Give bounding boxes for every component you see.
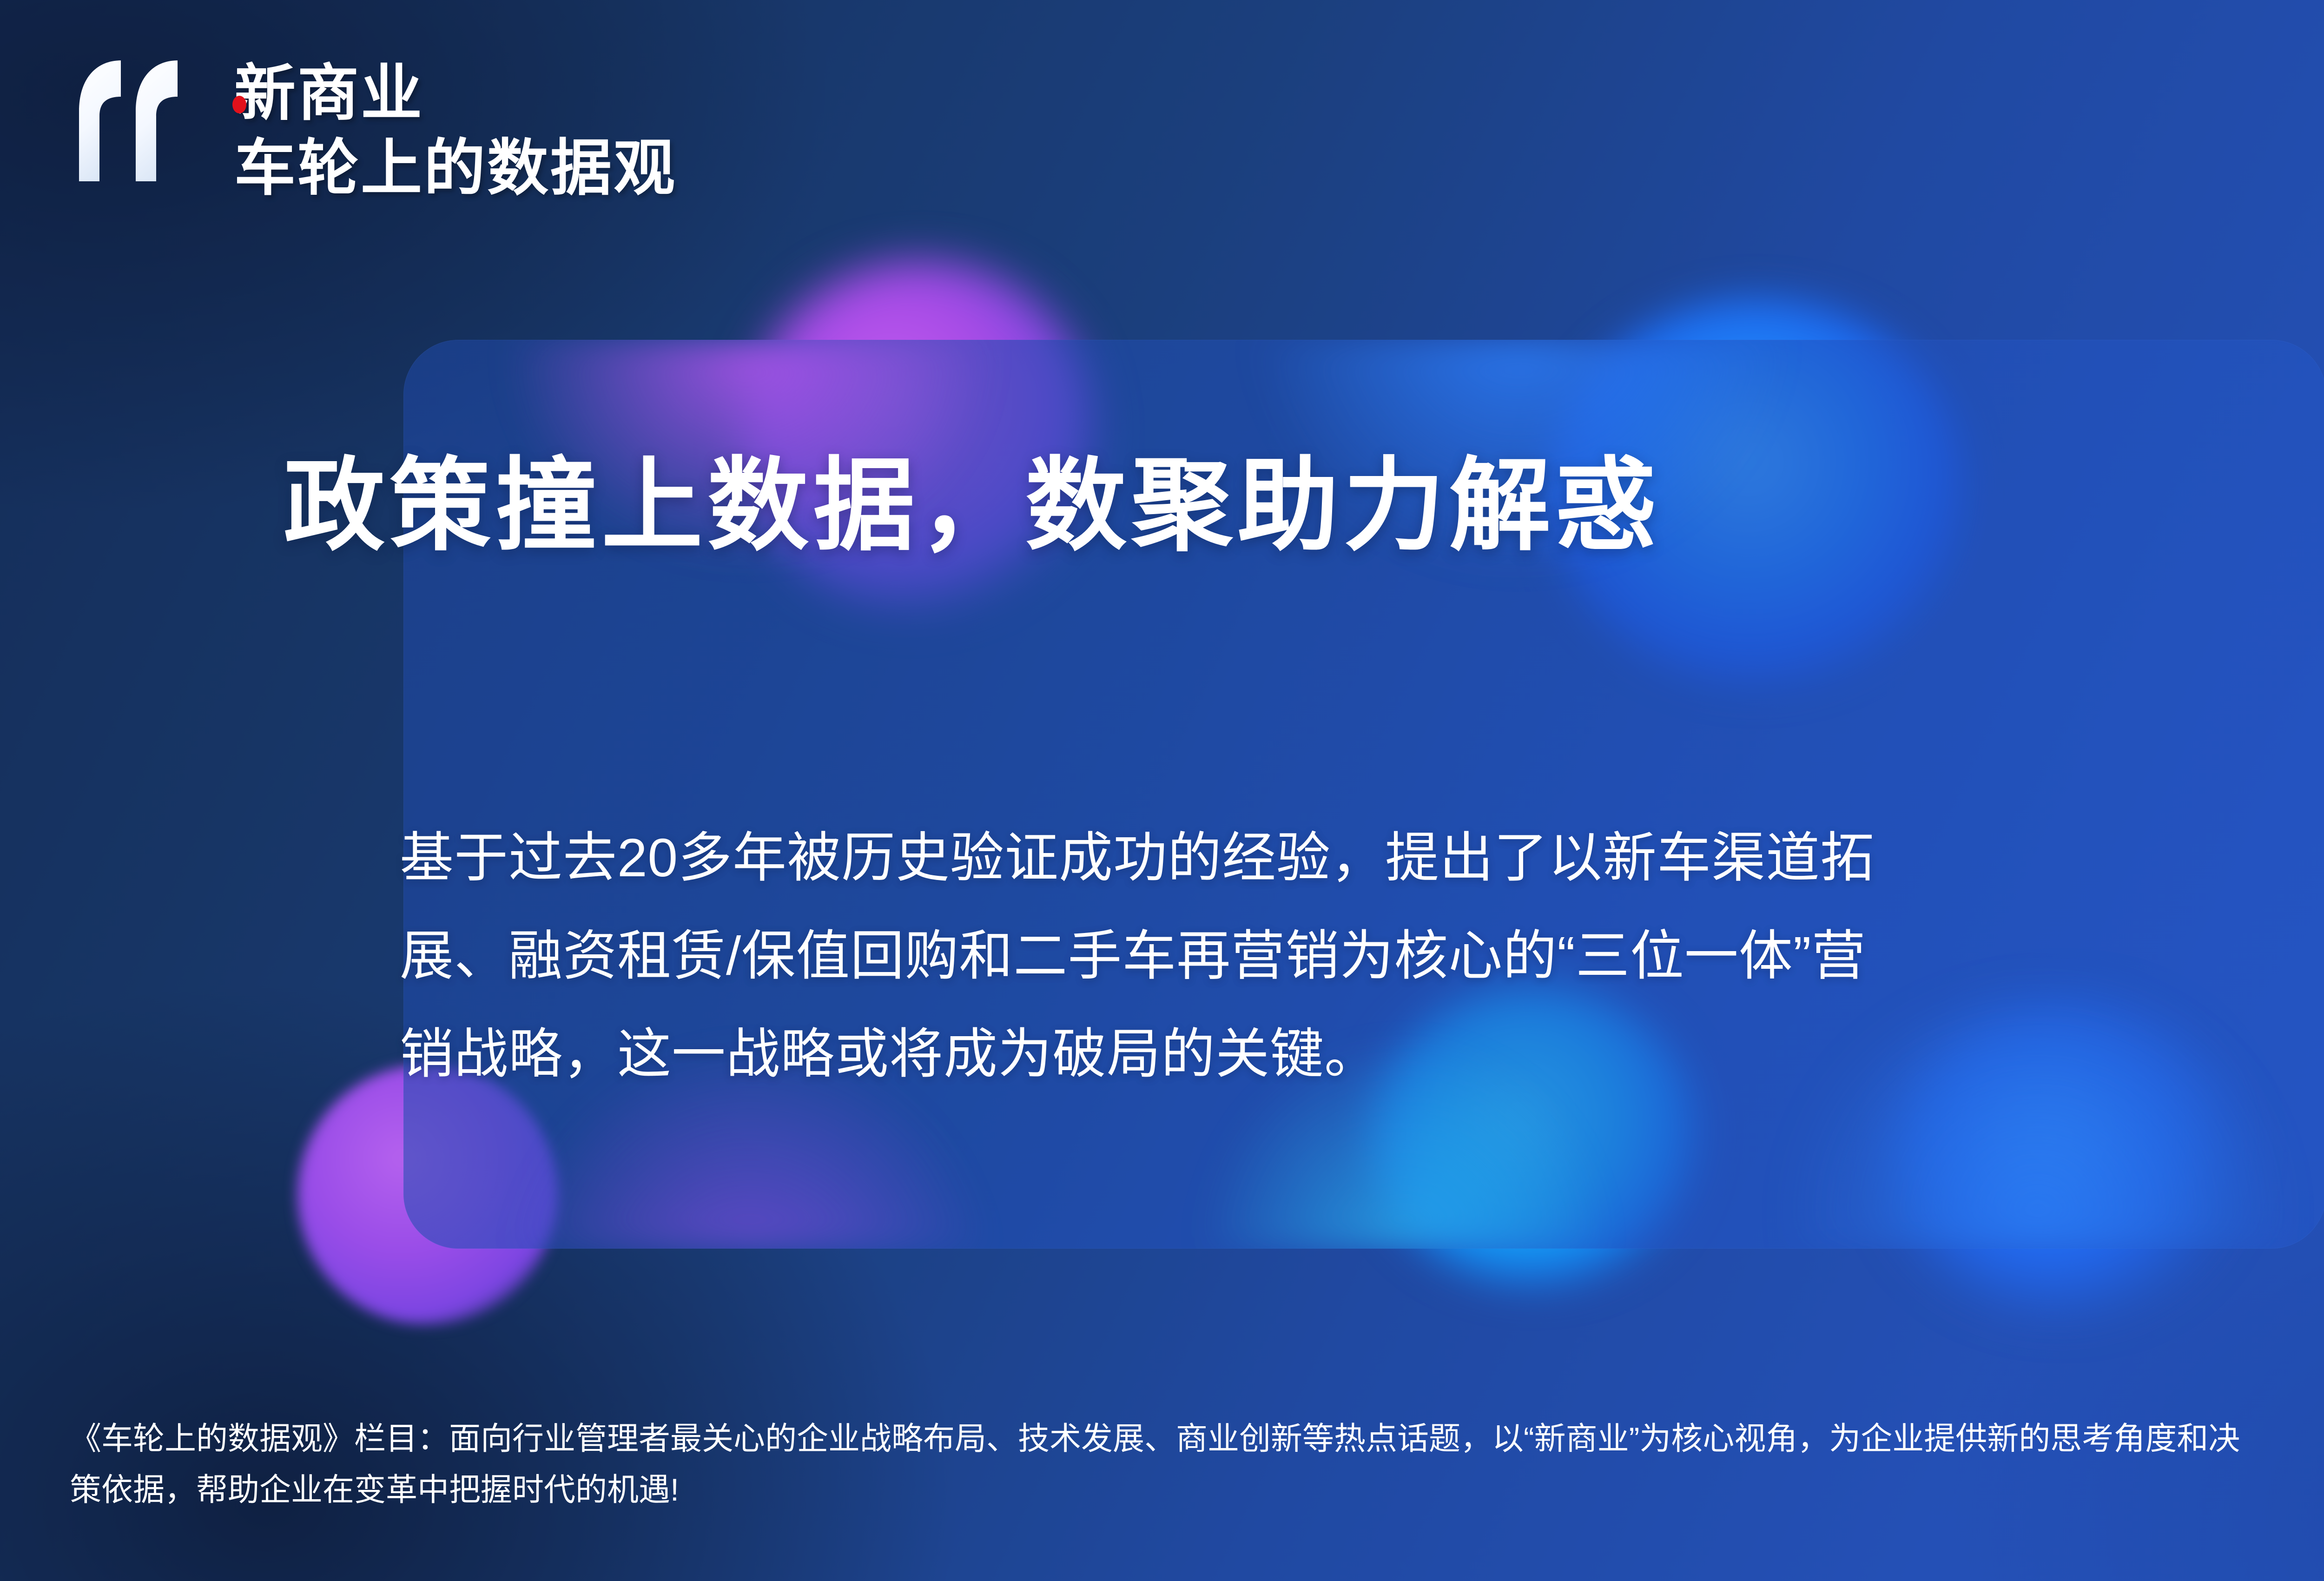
- brand-line-1-label: 新商业: [234, 59, 424, 127]
- footer-line: 《车轮上的数据观》栏目：面向行业管理者最关心的企业战略布局、技术发展、商业创新等…: [70, 1413, 2324, 1464]
- brand-line-2: 车轮上的数据观: [234, 131, 677, 205]
- accent-dot-icon: [232, 96, 246, 113]
- body-line: 销战略，这一战略或将成为破局的关键。: [400, 1005, 2264, 1103]
- page-title: 政策撞上数据，数聚助力解惑: [284, 446, 1661, 566]
- body-line: 展、融资租赁/保值回购和二手车再营销为核心的“三位一体”营: [400, 907, 2264, 1005]
- brand-text: 新商业 车轮上的数据观: [234, 42, 677, 205]
- poster-canvas: 新商业 车轮上的数据观 政策撞上数据，数聚助力解惑 基于过去20多年被历史验证成…: [0, 0, 2324, 1581]
- brand-line-1: 新商业: [234, 56, 677, 131]
- footer-note: 《车轮上的数据观》栏目：面向行业管理者最关心的企业战略布局、技术发展、商业创新等…: [70, 1413, 2324, 1515]
- footer-line: 策依据，帮助企业在变革中把握时代的机遇!: [70, 1464, 2324, 1515]
- body-line: 基于过去20多年被历史验证成功的经验，提出了以新车渠道拓: [400, 809, 2264, 907]
- hero-body-copy: 基于过去20多年被历史验证成功的经验，提出了以新车渠道拓 展、融资租赁/保值回购…: [400, 809, 2264, 1103]
- brand-lockup: 新商业 车轮上的数据观: [65, 42, 677, 205]
- quotation-mark-icon: [65, 42, 218, 195]
- brand-line-2-label: 车轮上的数据观: [234, 134, 677, 202]
